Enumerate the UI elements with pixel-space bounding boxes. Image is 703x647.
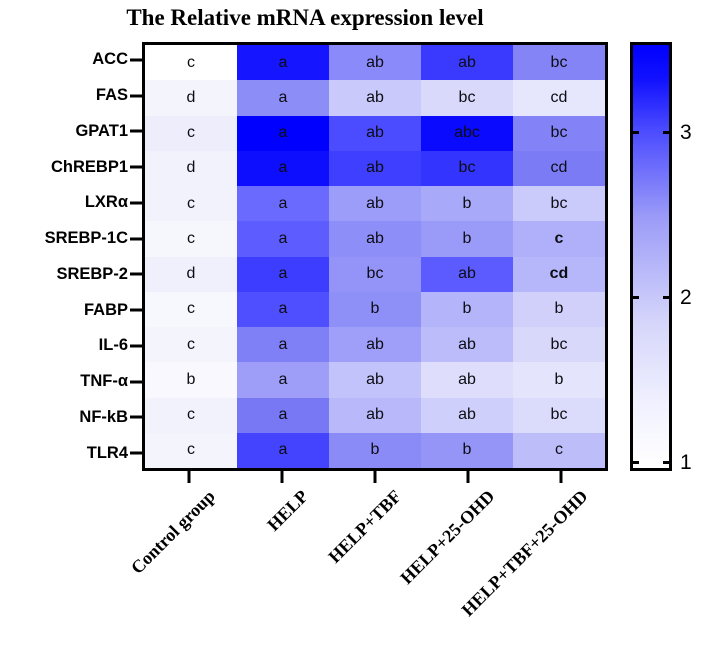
heatmap-cell-label: b — [555, 372, 564, 388]
y-axis-label-text: ChREBP1 — [51, 158, 128, 177]
heatmap-cell: ab — [329, 362, 421, 397]
heatmap-cell: a — [237, 398, 329, 433]
colorbar-tick-label-0: 3 — [680, 121, 692, 145]
colorbar-tick-mark — [630, 461, 639, 464]
heatmap-cell: a — [237, 292, 329, 327]
y-axis-label-text: FABP — [84, 301, 128, 320]
y-axis-label-6: SREBP-2 — [0, 257, 142, 293]
heatmap-cell: a — [237, 80, 329, 115]
heatmap-cell: ab — [329, 80, 421, 115]
y-axis-tick-mark — [130, 237, 142, 240]
y-axis-label-10: NF-kB — [0, 400, 142, 436]
heatmap-cell: ab — [421, 257, 513, 292]
y-axis-label-text: TNF-α — [80, 372, 128, 391]
heatmap-cell-label: c — [187, 125, 195, 141]
heatmap-cell-label: ab — [458, 372, 476, 388]
heatmap-cell: bc — [513, 45, 605, 80]
y-axis-label-text: SREBP-1C — [45, 229, 128, 248]
heatmap-cell: ab — [329, 186, 421, 221]
y-axis-tick-mark — [130, 416, 142, 419]
y-axis-label-8: IL-6 — [0, 328, 142, 364]
y-axis-tick-mark — [130, 94, 142, 97]
heatmap-cell-label: ab — [366, 337, 384, 353]
heatmap-cell-label: bc — [459, 90, 476, 106]
heatmap-cell: c — [145, 116, 237, 151]
colorbar-tick-mark — [663, 296, 672, 299]
y-axis-label-text: GPAT1 — [75, 122, 128, 141]
heatmap-cell: d — [145, 257, 237, 292]
heatmap-cell: c — [513, 433, 605, 468]
heatmap-cell-label: ab — [366, 55, 384, 71]
heatmap-grid: caababbcdaabbccdcaababcbcdaabbccdcaabbbc… — [145, 45, 605, 468]
heatmap-cell: cd — [513, 151, 605, 186]
heatmap-cell-label: cd — [550, 266, 569, 282]
x-axis-ticks — [142, 471, 608, 483]
heatmap-cell-label: a — [279, 407, 288, 423]
colorbar-tick-mark — [630, 296, 639, 299]
heatmap-cell-label: cd — [551, 90, 568, 106]
page-title: The Relative mRNA expression level — [0, 5, 610, 31]
y-axis-tick-mark — [130, 309, 142, 312]
heatmap-cell: ab — [421, 398, 513, 433]
heatmap-cell-label: b — [463, 442, 472, 458]
heatmap-cell: c — [145, 327, 237, 362]
heatmap-cell-label: a — [279, 90, 288, 106]
heatmap-cell: c — [513, 221, 605, 256]
heatmap-cell-label: bc — [551, 125, 568, 141]
heatmap-cell-label: ab — [458, 337, 476, 353]
heatmap-cell-label: ab — [458, 55, 476, 71]
heatmap-cell-label: b — [371, 442, 380, 458]
x-axis-tick-mark — [467, 471, 470, 483]
heatmap-cell: a — [237, 327, 329, 362]
heatmap-cell: c — [145, 433, 237, 468]
heatmap-cell-label: ab — [366, 372, 384, 388]
colorbar-tick-mark — [663, 461, 672, 464]
x-axis-tick-mark — [280, 471, 283, 483]
heatmap-cell: bc — [513, 327, 605, 362]
heatmap-cell: a — [237, 186, 329, 221]
y-axis-label-text: SREBP-2 — [56, 265, 128, 284]
y-axis-tick-mark — [130, 452, 142, 455]
y-axis-label-text: ACC — [92, 50, 128, 69]
y-axis-tick-mark — [130, 273, 142, 276]
colorbar-tick-label-2: 1 — [680, 451, 692, 475]
heatmap-cell-label: c — [187, 442, 195, 458]
colorbar-tick-mark — [663, 131, 672, 134]
heatmap-cell: b — [145, 362, 237, 397]
heatmap-cell-label: ab — [366, 407, 384, 423]
heatmap-cell-label: bc — [459, 160, 476, 176]
heatmap-cell: bc — [513, 116, 605, 151]
heatmap-cell-label: ab — [366, 196, 384, 212]
heatmap-cell: b — [329, 292, 421, 327]
x-axis-tick-mark — [560, 471, 563, 483]
heatmap-cell-label: bc — [367, 266, 384, 282]
heatmap-cell: ab — [329, 151, 421, 186]
x-axis-label-3: HELP+25-OHD — [396, 486, 499, 589]
x-axis-tick-mark — [187, 471, 190, 483]
y-axis-label-0: ACC — [0, 42, 142, 78]
heatmap-cell-label: c — [187, 301, 195, 317]
heatmap-cell: bc — [421, 80, 513, 115]
y-axis-label-11: TLR4 — [0, 435, 142, 471]
colorbar-gradient — [630, 42, 672, 471]
heatmap-cell-label: b — [371, 301, 380, 317]
y-axis-label-text: NF-kB — [79, 408, 128, 427]
y-axis-label-3: ChREBP1 — [0, 149, 142, 185]
heatmap-cell-label: bc — [551, 55, 568, 71]
heatmap-cell-label: d — [187, 90, 196, 106]
heatmap-cell-label: c — [187, 337, 195, 353]
heatmap-cell: a — [237, 362, 329, 397]
heatmap-cell: a — [237, 221, 329, 256]
heatmap-cell: b — [513, 362, 605, 397]
colorbar-tick-mark — [630, 131, 639, 134]
heatmap-cell: b — [421, 221, 513, 256]
heatmap-cell-label: bc — [551, 196, 568, 212]
heatmap-cell-label: ab — [458, 407, 476, 423]
heatmap-cell: b — [513, 292, 605, 327]
heatmap-cell: c — [145, 398, 237, 433]
heatmap-cell-label: b — [463, 196, 472, 212]
heatmap-cell: bc — [513, 186, 605, 221]
y-axis-label-5: SREBP-1C — [0, 221, 142, 257]
heatmap-cell: bc — [513, 398, 605, 433]
heatmap-cell-label: b — [463, 301, 472, 317]
y-axis-label-text: LXRα — [85, 193, 128, 212]
heatmap-cell: a — [237, 257, 329, 292]
heatmap-cell-label: c — [555, 442, 563, 458]
heatmap-cell-label: a — [279, 337, 288, 353]
heatmap-cell: d — [145, 151, 237, 186]
y-axis-label-text: TLR4 — [87, 444, 128, 463]
heatmap-cell-label: b — [555, 301, 564, 317]
heatmap-cell-label: ab — [458, 266, 476, 282]
y-axis-label-2: GPAT1 — [0, 114, 142, 150]
heatmap-cell: abc — [421, 116, 513, 151]
heatmap-plot-area: caababbcdaabbccdcaababcbcdaabbccdcaabbbc… — [142, 42, 608, 471]
heatmap-cell-label: b — [463, 231, 472, 247]
y-axis-label-text: IL-6 — [99, 336, 128, 355]
heatmap-cell: ab — [329, 327, 421, 362]
heatmap-cell: b — [329, 433, 421, 468]
heatmap-cell: b — [421, 186, 513, 221]
heatmap-cell: a — [237, 151, 329, 186]
y-axis-tick-mark — [130, 166, 142, 169]
y-axis-label-9: TNF-α — [0, 364, 142, 400]
heatmap-cell: b — [421, 433, 513, 468]
heatmap-cell-label: b — [187, 372, 196, 388]
heatmap-cell-label: c — [187, 231, 195, 247]
x-axis-label-1: HELP — [263, 486, 313, 536]
heatmap-cell-label: ab — [366, 125, 384, 141]
heatmap-cell: a — [237, 116, 329, 151]
x-axis-tick-2 — [328, 471, 421, 483]
y-axis-tick-mark — [130, 344, 142, 347]
y-axis-label-4: LXRα — [0, 185, 142, 221]
heatmap-cell: bc — [329, 257, 421, 292]
heatmap-cell-label: ab — [366, 90, 384, 106]
colorbar-tick-label-1: 2 — [680, 286, 692, 310]
heatmap-cell: cd — [513, 257, 605, 292]
heatmap-cell-label: a — [279, 196, 288, 212]
colorbar: 321 — [630, 42, 674, 471]
heatmap-cell-label: a — [279, 372, 288, 388]
heatmap-cell: c — [145, 186, 237, 221]
heatmap-cell: ab — [329, 116, 421, 151]
heatmap-cell: ab — [421, 362, 513, 397]
y-axis-labels: ACCFASGPAT1ChREBP1LXRαSREBP-1CSREBP-2FAB… — [0, 42, 142, 471]
heatmap-cell: ab — [421, 45, 513, 80]
x-axis-tick-1 — [235, 471, 328, 483]
y-axis-tick-mark — [130, 380, 142, 383]
y-axis-label-text: FAS — [96, 86, 128, 105]
heatmap-cell-label: c — [555, 231, 564, 247]
heatmap-cell: ab — [329, 398, 421, 433]
heatmap-cell-label: d — [187, 160, 196, 176]
x-axis-tick-3 — [422, 471, 515, 483]
heatmap-cell: cd — [513, 80, 605, 115]
y-axis-label-1: FAS — [0, 78, 142, 114]
heatmap-cell-label: a — [279, 301, 288, 317]
heatmap-cell-label: bc — [551, 337, 568, 353]
heatmap-cell: ab — [421, 327, 513, 362]
y-axis-tick-mark — [130, 58, 142, 61]
heatmap-cell-label: a — [279, 125, 288, 141]
heatmap-cell: c — [145, 292, 237, 327]
heatmap-cell-label: c — [187, 196, 195, 212]
heatmap-cell-label: cd — [551, 160, 568, 176]
heatmap-cell-label: c — [187, 55, 195, 71]
heatmap-cell: ab — [329, 221, 421, 256]
heatmap-cell: a — [237, 433, 329, 468]
heatmap-cell: bc — [421, 151, 513, 186]
x-axis-label-0: Control group — [127, 486, 220, 579]
heatmap-cell-label: d — [187, 266, 196, 282]
heatmap-cell: a — [237, 45, 329, 80]
y-axis-label-7: FABP — [0, 292, 142, 328]
heatmap-cell-label: ab — [366, 231, 384, 247]
x-axis-tick-0 — [142, 471, 235, 483]
heatmap-cell-label: bc — [551, 407, 568, 423]
x-axis-tick-4 — [515, 471, 608, 483]
heatmap-cell-label: a — [279, 266, 288, 282]
heatmap-cell-label: a — [279, 231, 288, 247]
heatmap-cell: c — [145, 45, 237, 80]
heatmap-cell-label: a — [279, 55, 288, 71]
heatmap-figure: The Relative mRNA expression level ACCFA… — [0, 0, 703, 647]
x-axis-tick-mark — [373, 471, 376, 483]
x-axis-label-2: HELP+TBF — [324, 486, 406, 568]
y-axis-tick-mark — [130, 201, 142, 204]
heatmap-cell-label: c — [187, 407, 195, 423]
heatmap-cell-label: abc — [454, 125, 480, 141]
heatmap-cell: d — [145, 80, 237, 115]
heatmap-cell: ab — [329, 45, 421, 80]
y-axis-tick-mark — [130, 130, 142, 133]
heatmap-cell-label: ab — [366, 160, 384, 176]
heatmap-cell-label: a — [279, 442, 288, 458]
heatmap-cell-label: a — [279, 160, 288, 176]
heatmap-cell: c — [145, 221, 237, 256]
heatmap-cell: b — [421, 292, 513, 327]
